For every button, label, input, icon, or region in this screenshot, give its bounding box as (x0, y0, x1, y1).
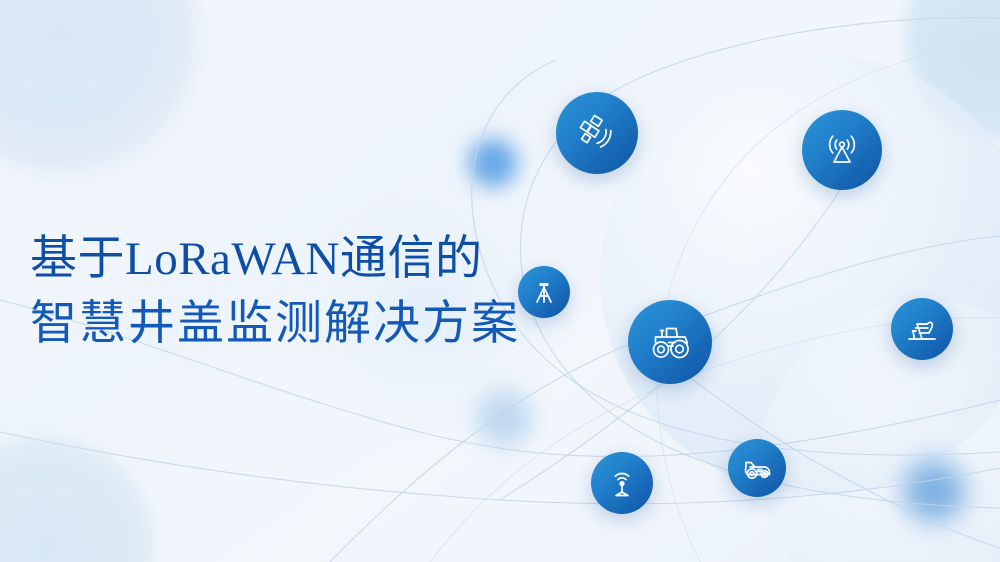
satellite-node[interactable] (556, 92, 638, 174)
radio-tower-node[interactable] (802, 110, 882, 190)
oil-pumpjack-icon (905, 312, 939, 346)
background-glow-dot-two (468, 382, 540, 454)
slide-title: 基于LoRaWAN通信的 智慧井盖监测解决方案 (30, 228, 570, 356)
mower-node[interactable] (728, 439, 786, 497)
satellite-signal-icon (575, 111, 619, 155)
background-sphere-small (760, 300, 1000, 562)
beacon-signal-icon (605, 466, 639, 500)
beacon-node[interactable] (591, 452, 653, 514)
title-line-two: 智慧井盖监测解决方案 (30, 290, 570, 356)
robot-mower-icon (740, 451, 774, 485)
background-sphere-large (600, 55, 1000, 495)
background-blob-bottom-left (0, 432, 160, 562)
background-blob-top-left (0, 0, 210, 185)
tractor-node[interactable] (628, 300, 712, 384)
background-glow-dot-one (462, 132, 524, 194)
oil-pump-node[interactable] (891, 298, 953, 360)
tractor-icon (646, 318, 694, 366)
radio-tower-icon (821, 129, 863, 171)
background-blob-top-right (905, 0, 1000, 140)
title-line-one: 基于LoRaWAN通信的 (30, 228, 570, 290)
background-glow-dot-three (895, 452, 973, 530)
presentation-slide: 基于LoRaWAN通信的 智慧井盖监测解决方案 (0, 0, 1000, 562)
